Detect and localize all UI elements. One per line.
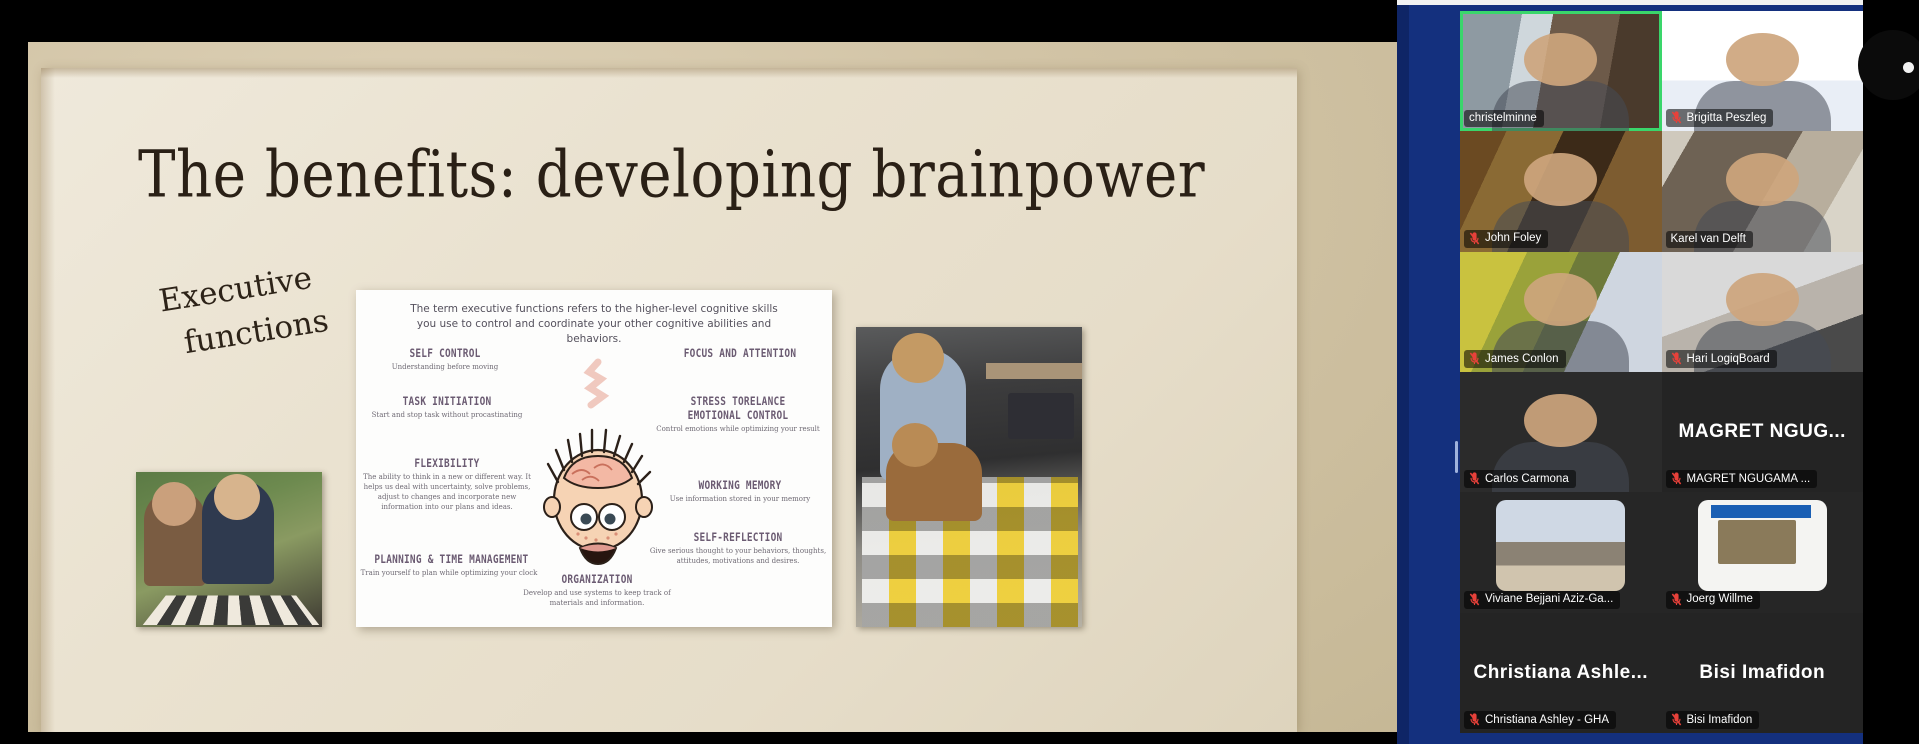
- participant-name: christelminne: [1469, 112, 1537, 124]
- participant-tile[interactable]: Bisi Imafidon Bisi Imafidon: [1662, 613, 1864, 733]
- panel-top-divider: [1397, 0, 1863, 5]
- participant-name: Christiana Ashley - GHA: [1485, 714, 1609, 726]
- participant-tile[interactable]: James Conlon: [1460, 252, 1662, 372]
- participant-video-panel: christelminne Brigitta Peszleg John Fole…: [1397, 0, 1863, 744]
- ef-item-organization: ORGANIZATION Develop and use systems to …: [512, 572, 682, 609]
- participant-tile[interactable]: christelminne: [1460, 11, 1662, 131]
- presentation-slide: The benefits: developing brainpower Exec…: [28, 42, 1397, 732]
- microphone-muted-icon: [1469, 232, 1480, 245]
- ef-item-working-memory: WORKING MEMORY Use information stored in…: [652, 478, 828, 505]
- shared-screen-region[interactable]: The benefits: developing brainpower Exec…: [0, 0, 1397, 744]
- participant-name-tag: christelminne: [1464, 110, 1544, 127]
- participant-tile[interactable]: John Foley: [1460, 131, 1662, 251]
- participant-name: James Conlon: [1485, 353, 1559, 365]
- infographic-intro: The term executive functions refers to t…: [356, 302, 832, 348]
- storage-box: [1008, 393, 1074, 439]
- avatar-portrait: [1718, 520, 1795, 564]
- participant-head: [1726, 273, 1799, 326]
- ef-title: WORKING MEMORY: [668, 478, 812, 492]
- ef-item-focus-and-attention: FOCUS AND ATTENTION: [654, 346, 826, 360]
- infographic-intro-line1: The term executive functions refers to t…: [390, 302, 798, 317]
- meeting-window: The benefits: developing brainpower Exec…: [0, 0, 1919, 744]
- participant-head: [1726, 33, 1799, 86]
- avatar-banner: [1711, 505, 1812, 518]
- ef-item-self-control: SELF CONTROL Understanding before moving: [360, 346, 530, 373]
- panel-left-strip: [1397, 0, 1409, 744]
- participant-tile[interactable]: Hari LogiqBoard: [1662, 252, 1864, 372]
- chess-child-right-head: [214, 474, 260, 520]
- participant-head: [1524, 153, 1597, 206]
- participant-name: John Foley: [1485, 232, 1541, 244]
- participant-name: Viviane Bejjani Aziz-Ga...: [1485, 593, 1613, 605]
- ef-title: FLEXIBILITY: [374, 456, 520, 470]
- participant-head: [1726, 153, 1799, 206]
- participant-name-tag: James Conlon: [1464, 350, 1566, 368]
- participant-tile[interactable]: MAGRET NGUG... MAGRET NGUGAMA ...: [1662, 372, 1864, 492]
- participant-avatar: [1698, 500, 1827, 591]
- paper-edge-left: [41, 68, 55, 732]
- participant-name: Joerg Willme: [1687, 593, 1753, 605]
- microphone-muted-icon: [1469, 713, 1480, 726]
- microphone-muted-icon: [1671, 352, 1682, 365]
- participant-name-tag: MAGRET NGUGAMA ...: [1666, 470, 1818, 488]
- ef-desc: Control emotions while optimizing your r…: [648, 425, 828, 435]
- ef-item-task-initiation: TASK INITIATION Start and stop task with…: [356, 394, 538, 421]
- participant-name-tag: John Foley: [1464, 230, 1548, 248]
- floor-child-standing-head: [892, 333, 944, 383]
- ef-title: TASK INITIATION: [372, 394, 521, 408]
- participant-head: [1524, 273, 1597, 326]
- participant-tile[interactable]: Carlos Carmona: [1460, 372, 1662, 492]
- ef-desc: Develop and use systems to keep track of…: [512, 589, 682, 609]
- participant-name-tag: Brigitta Peszleg: [1666, 109, 1774, 127]
- participant-name-tag: Karel van Delft: [1666, 231, 1753, 248]
- microphone-muted-icon: [1469, 352, 1480, 365]
- participant-name: Hari LogiqBoard: [1687, 353, 1770, 365]
- participant-tile[interactable]: Viviane Bejjani Aziz-Ga...: [1460, 492, 1662, 612]
- ef-title: FOCUS AND ATTENTION: [669, 346, 810, 360]
- ef-item-stress-emotional-control: STRESS TORELANCE EMOTIONAL CONTROL Contr…: [648, 394, 828, 435]
- ef-desc: Start and stop task without procastinati…: [356, 411, 538, 421]
- participant-tile[interactable]: Karel van Delft: [1662, 131, 1864, 251]
- participant-head: [1524, 33, 1597, 86]
- chess-child-left-head: [152, 482, 196, 526]
- ef-desc: Give serious thought to your behaviors, …: [648, 547, 828, 567]
- participant-name: Karel van Delft: [1671, 233, 1746, 245]
- participant-tile[interactable]: Christiana Ashle... Christiana Ashley - …: [1460, 613, 1662, 733]
- ef-title: STRESS TORELANCE EMOTIONAL CONTROL: [664, 394, 812, 422]
- participant-head: [1524, 394, 1597, 447]
- ef-desc: The ability to think in a new or differe…: [358, 473, 536, 513]
- participant-name-tag: Viviane Bejjani Aziz-Ga...: [1464, 591, 1620, 609]
- participant-name-tag: Hari LogiqBoard: [1666, 350, 1777, 368]
- microphone-muted-icon: [1671, 472, 1682, 485]
- microphone-muted-icon: [1469, 472, 1480, 485]
- wooden-bench: [986, 363, 1082, 379]
- paper-edge-top: [41, 68, 1297, 78]
- ef-item-flexibility: FLEXIBILITY The ability to think in a ne…: [358, 456, 536, 513]
- participant-name-tag: Bisi Imafidon: [1666, 711, 1760, 729]
- microphone-muted-icon: [1469, 593, 1480, 606]
- slide-photo-chess: [136, 472, 322, 627]
- cursor-pointer[interactable]: [1903, 62, 1914, 73]
- participant-tile[interactable]: Brigitta Peszleg: [1662, 11, 1864, 131]
- handle-bar: [1455, 441, 1458, 473]
- ef-title: SELF CONTROL: [375, 346, 514, 360]
- chessboard: [143, 595, 320, 624]
- slide-photo-floor-activity: [856, 327, 1082, 627]
- floor-child-crouching-head: [892, 423, 938, 467]
- participant-name-tag: Joerg Willme: [1666, 591, 1760, 609]
- ef-title: SELF-REFLECTION: [664, 530, 812, 544]
- participant-name: Bisi Imafidon: [1687, 714, 1753, 726]
- ef-title: PLANNING & TIME MANAGEMENT: [374, 552, 523, 566]
- microphone-muted-icon: [1671, 593, 1682, 606]
- participant-name-tag: Carlos Carmona: [1464, 470, 1576, 488]
- slide-title: The benefits: developing brainpower: [138, 136, 1205, 212]
- participant-tile-grid: christelminne Brigitta Peszleg John Fole…: [1460, 11, 1863, 733]
- microphone-muted-icon: [1671, 713, 1682, 726]
- participant-name-tag: Christiana Ashley - GHA: [1464, 711, 1616, 729]
- ef-desc: Use information stored in your memory: [652, 495, 828, 505]
- executive-functions-infographic: The term executive functions refers to t…: [356, 290, 832, 627]
- participant-tile[interactable]: Joerg Willme: [1662, 492, 1864, 612]
- participant-name: MAGRET NGUGAMA ...: [1687, 473, 1811, 485]
- participant-name: Carlos Carmona: [1485, 473, 1569, 485]
- letterbox-right: [1863, 0, 1919, 744]
- ef-item-self-reflection: SELF-REFLECTION Give serious thought to …: [648, 530, 828, 567]
- infographic-intro-line2: you use to control and coordinate your o…: [390, 317, 798, 347]
- ef-title: ORGANIZATION: [527, 572, 666, 586]
- ef-desc: Understanding before moving: [360, 363, 530, 373]
- microphone-muted-icon: [1671, 111, 1682, 124]
- participant-avatar: [1496, 500, 1625, 591]
- participant-name: Brigitta Peszleg: [1687, 112, 1767, 124]
